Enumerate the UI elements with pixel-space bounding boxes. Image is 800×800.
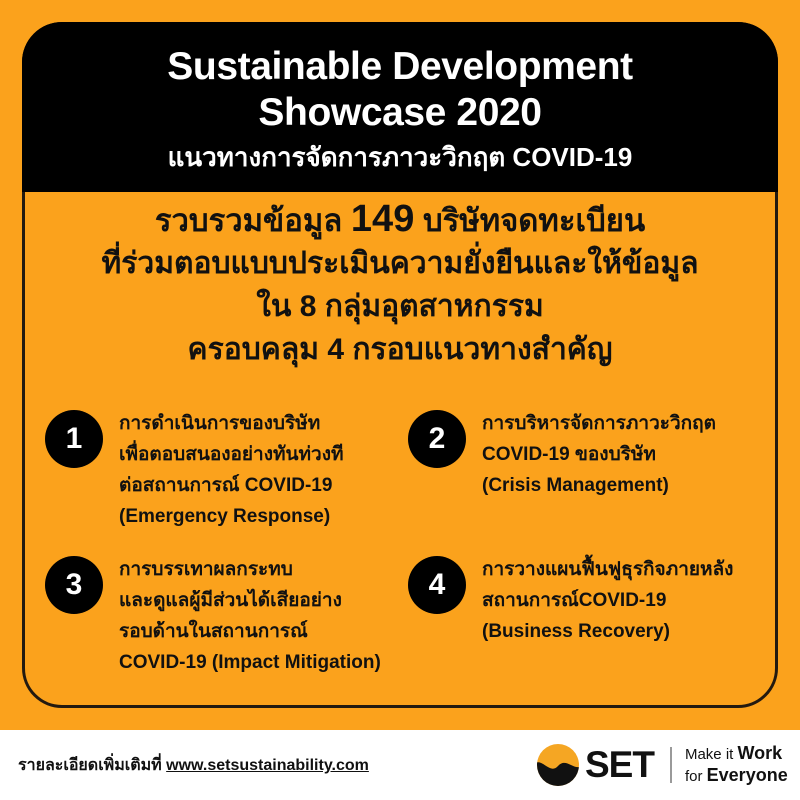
- set-wordmark: SET: [585, 745, 654, 785]
- tagline-line-1-light: Make it: [685, 746, 738, 763]
- framework-points-grid: 1 การดำเนินการของบริษัท เพื่อตอบสนองอย่า…: [22, 404, 778, 694]
- company-count: 149: [351, 198, 414, 240]
- point-1-line-3: ต่อสถานการณ์ COVID-19: [119, 470, 344, 501]
- point-text-3: การบรรเทาผลกระทบ และดูแลผู้มีส่วนได้เสีย…: [119, 552, 381, 678]
- tagline-line-1-bold: Work: [737, 743, 782, 763]
- page-title-line-1: Sustainable Development: [167, 44, 632, 90]
- tagline-line-2-bold: Everyone: [707, 765, 788, 785]
- footer-bar: รายละเอียดเพิ่มเติมที่ www.setsustainabi…: [0, 730, 800, 800]
- point-2-line-2: COVID-19 ของบริษัท: [482, 439, 716, 470]
- footer-note: รายละเอียดเพิ่มเติมที่ www.setsustainabi…: [18, 753, 369, 778]
- point-number-badge-1: 1: [45, 410, 103, 468]
- lead-line-2: ที่ร่วมตอบแบบประเมินความยั่งยืนและให้ข้อ…: [22, 242, 778, 285]
- point-1-line-2: เพื่อตอบสนองอย่างทันท่วงที: [119, 439, 344, 470]
- logo-divider: [670, 747, 672, 783]
- point-text-4: การวางแผนฟื้นฟูธุรกิจภายหลัง สถานการณ์CO…: [482, 552, 733, 647]
- point-3-line-1: การบรรเทาผลกระทบ: [119, 554, 381, 585]
- set-tagline: Make it Work for Everyone: [685, 743, 788, 787]
- sustainability-website-link[interactable]: www.setsustainability.com: [166, 757, 369, 774]
- point-number-badge-4: 4: [408, 556, 466, 614]
- page-title-line-2: Showcase 2020: [258, 90, 541, 136]
- footer-note-prefix: รายละเอียดเพิ่มเติมที่: [18, 757, 166, 774]
- framework-point-2: 2 การบริหารจัดการภาวะวิกฤต COVID-19 ของบ…: [408, 406, 778, 501]
- point-3-line-4: COVID-19 (Impact Mitigation): [119, 647, 381, 678]
- framework-point-1: 1 การดำเนินการของบริษัท เพื่อตอบสนองอย่า…: [45, 406, 415, 532]
- point-1-line-4: (Emergency Response): [119, 501, 344, 532]
- point-number-badge-3: 3: [45, 556, 103, 614]
- page-subtitle-thai: แนวทางการจัดการภาวะวิกฤต COVID-19: [168, 139, 633, 175]
- header-band: Sustainable Development Showcase 2020 แน…: [22, 22, 778, 192]
- lead-line-1: รวบรวมข้อมูล 149 บริษัทจดทะเบียน: [22, 198, 778, 242]
- point-text-1: การดำเนินการของบริษัท เพื่อตอบสนองอย่างท…: [119, 406, 344, 532]
- point-number-badge-2: 2: [408, 410, 466, 468]
- point-4-line-2: สถานการณ์COVID-19: [482, 585, 733, 616]
- point-4-line-1: การวางแผนฟื้นฟูธุรกิจภายหลัง: [482, 554, 733, 585]
- set-sun-wave-icon: [532, 742, 584, 788]
- tagline-line-1: Make it Work: [685, 746, 782, 763]
- lead-paragraph: รวบรวมข้อมูล 149 บริษัทจดทะเบียน ที่ร่วม…: [22, 198, 778, 371]
- lead-line-1-prefix: รวบรวมข้อมูล: [155, 203, 351, 238]
- tagline-line-2: for Everyone: [685, 768, 788, 785]
- lead-line-1-suffix: บริษัทจดทะเบียน: [414, 203, 645, 238]
- point-1-line-1: การดำเนินการของบริษัท: [119, 408, 344, 439]
- point-4-line-3: (Business Recovery): [482, 616, 733, 647]
- set-logo: SET Make it Work for Everyone: [532, 742, 788, 788]
- lead-line-4: ครอบคลุม 4 กรอบแนวทางสำคัญ: [22, 328, 778, 371]
- framework-point-3: 3 การบรรเทาผลกระทบ และดูแลผู้มีส่วนได้เส…: [45, 552, 425, 678]
- lead-line-3: ใน 8 กลุ่มอุตสาหกรรม: [22, 285, 778, 328]
- point-3-line-3: รอบด้านในสถานการณ์: [119, 616, 381, 647]
- poster-canvas: Sustainable Development Showcase 2020 แน…: [0, 0, 800, 800]
- point-3-line-2: และดูแลผู้มีส่วนได้เสียอย่าง: [119, 585, 381, 616]
- point-2-line-3: (Crisis Management): [482, 470, 716, 501]
- tagline-line-2-light: for: [685, 768, 707, 785]
- framework-point-4: 4 การวางแผนฟื้นฟูธุรกิจภายหลัง สถานการณ์…: [408, 552, 778, 647]
- point-2-line-1: การบริหารจัดการภาวะวิกฤต: [482, 408, 716, 439]
- point-text-2: การบริหารจัดการภาวะวิกฤต COVID-19 ของบริ…: [482, 406, 716, 501]
